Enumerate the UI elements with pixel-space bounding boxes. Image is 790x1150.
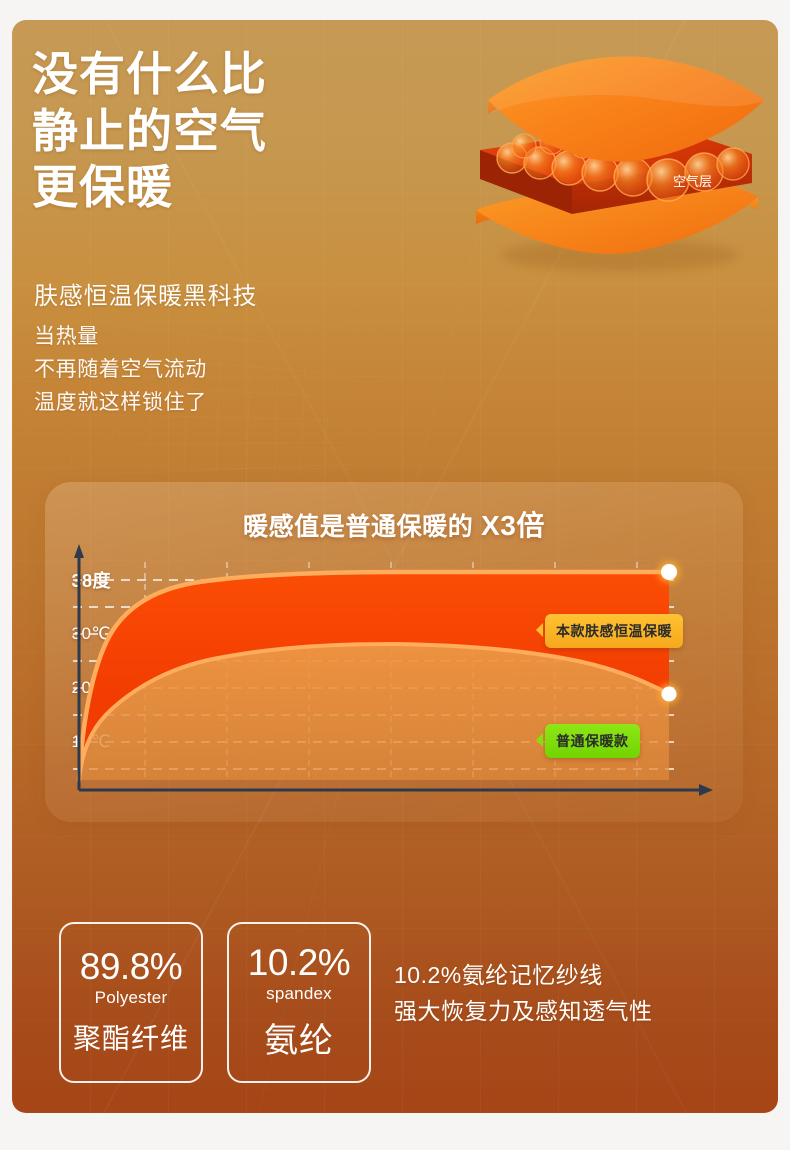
composition-note: 10.2%氨纶记忆纱线 强大恢复力及感知透气性: [394, 958, 653, 1029]
subtitle-main: 肤感恒温保暖黑科技: [34, 276, 257, 311]
headline-line-2: 静止的空气: [32, 103, 267, 160]
legend-badge-ordinary[interactable]: 普通保暖款: [545, 724, 640, 758]
subtitle-line-1: 当热量: [34, 320, 207, 353]
chart-title-text: 暖感值是普通保暖的: [243, 513, 473, 541]
y-axis-arrow: [74, 544, 84, 558]
spandex-percent: 10.2%: [248, 944, 350, 981]
subtitle-line-3: 温度就这样锁住了: [34, 386, 207, 419]
ordinary-endpoint-marker: [662, 687, 677, 702]
composition-note-line-2: 强大恢复力及感知透气性: [394, 994, 653, 1030]
premium-endpoint-marker: [661, 564, 677, 580]
x-axis-arrow: [699, 784, 713, 796]
composition-box-polyester: 89.8% Polyester 聚酯纤维: [59, 922, 203, 1083]
headline-line-3: 更保暖: [32, 159, 267, 216]
product-detail-card: 没有什么比 静止的空气 更保暖 肤感恒温保暖黑科技 当热量 不再随着空气流动 温…: [12, 20, 778, 1113]
warmth-chart-card: 暖感值是普通保暖的 X3倍 38度 30℃ 20℃ 10℃: [45, 482, 743, 822]
composition-note-line-1: 10.2%氨纶记忆纱线: [394, 958, 653, 994]
subtitle-block: 当热量 不再随着空气流动 温度就这样锁住了: [34, 320, 207, 420]
polyester-chinese: 聚酯纤维: [73, 1017, 189, 1057]
fabric-layers-illustration: 空气层: [452, 42, 778, 292]
legend-badge-premium[interactable]: 本款肤感恒温保暖: [545, 614, 683, 648]
spandex-chinese: 氨纶: [264, 1013, 334, 1062]
chart-plot-area: [73, 562, 715, 807]
composition-box-spandex: 10.2% spandex 氨纶: [227, 922, 371, 1083]
page-title: 没有什么比 静止的空气 更保暖: [32, 46, 267, 216]
spandex-english: spandex: [266, 984, 332, 1004]
headline-line-1: 没有什么比: [32, 46, 267, 103]
polyester-percent: 89.8%: [80, 948, 182, 985]
subtitle-line-2: 不再随着空气流动: [34, 353, 207, 386]
chart-title: 暖感值是普通保暖的 X3倍: [45, 504, 743, 544]
chart-title-emphasis: X3倍: [481, 510, 545, 541]
polyester-english: Polyester: [95, 988, 168, 1008]
air-layer-label: 空气层: [673, 174, 712, 189]
